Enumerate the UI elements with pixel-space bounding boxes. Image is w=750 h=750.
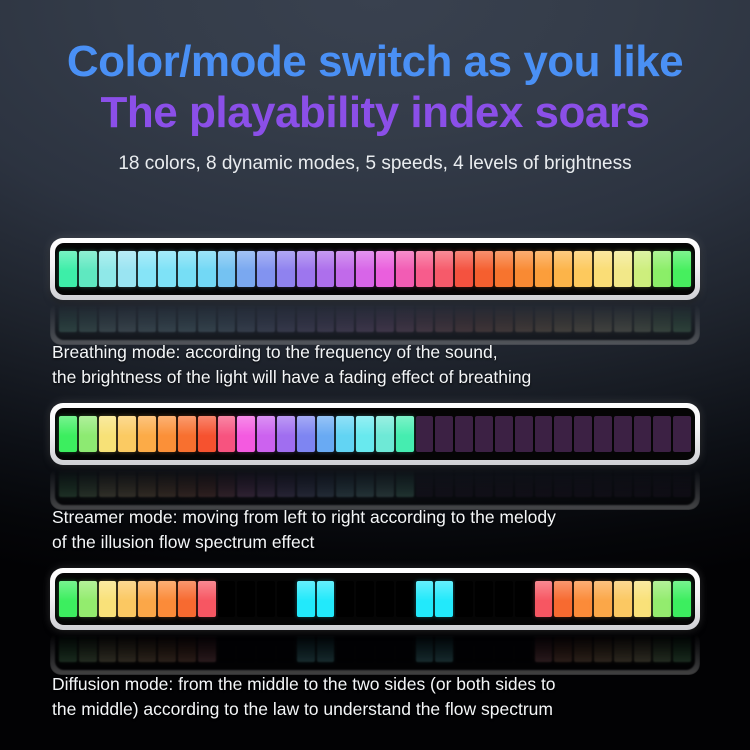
led-segment <box>614 251 632 287</box>
led-segment <box>59 416 77 452</box>
led-segment <box>336 466 354 497</box>
led-segment <box>435 581 453 617</box>
led-segment <box>554 581 572 617</box>
led-segment <box>475 251 493 287</box>
led-segment <box>475 466 493 497</box>
led-segment <box>653 631 671 662</box>
led-segment <box>178 251 196 287</box>
led-segment <box>277 581 295 617</box>
led-segment <box>653 301 671 332</box>
led-segment <box>376 581 394 617</box>
led-segment <box>59 631 77 662</box>
led-segment <box>376 466 394 497</box>
reflection-bar <box>50 466 700 510</box>
led-bar-diffusion <box>50 568 700 630</box>
led-segment <box>118 581 136 617</box>
led-segment <box>257 301 275 332</box>
led-segment <box>634 631 652 662</box>
led-segment <box>554 631 572 662</box>
led-segment <box>138 251 156 287</box>
led-segment <box>297 251 315 287</box>
led-segment <box>574 466 592 497</box>
led-segment <box>455 631 473 662</box>
led-segment <box>99 251 117 287</box>
led-segment <box>594 466 612 497</box>
led-segment <box>237 416 255 452</box>
led-segment <box>515 251 533 287</box>
led-segment <box>435 631 453 662</box>
led-segment <box>673 581 691 617</box>
reflection-bar <box>50 631 700 675</box>
led-segment <box>634 251 652 287</box>
led-segment <box>158 466 176 497</box>
led-segment <box>495 301 513 332</box>
led-segment <box>495 416 513 452</box>
led-segment <box>554 416 572 452</box>
led-segment <box>356 301 374 332</box>
led-unit-breathing <box>50 238 700 345</box>
led-segment <box>653 466 671 497</box>
led-segment <box>416 581 434 617</box>
led-segment <box>475 581 493 617</box>
led-segment <box>118 416 136 452</box>
led-segment <box>653 416 671 452</box>
led-segment <box>376 301 394 332</box>
led-segment <box>277 631 295 662</box>
led-segment <box>218 251 236 287</box>
led-segment <box>218 301 236 332</box>
led-bar-reflection-diffusion <box>50 631 700 675</box>
led-segment <box>198 416 216 452</box>
led-segment <box>495 466 513 497</box>
led-segment <box>237 301 255 332</box>
led-segment <box>277 251 295 287</box>
led-segment <box>198 631 216 662</box>
led-segment <box>317 251 335 287</box>
led-segment <box>277 301 295 332</box>
led-segment <box>158 581 176 617</box>
led-segment <box>396 251 414 287</box>
led-segment <box>435 301 453 332</box>
led-segment <box>178 301 196 332</box>
led-segment <box>634 466 652 497</box>
led-segment <box>435 466 453 497</box>
led-segment <box>198 301 216 332</box>
led-segment <box>99 466 117 497</box>
led-segment <box>535 466 553 497</box>
led-segment <box>376 631 394 662</box>
led-segment <box>634 416 652 452</box>
led-segment <box>574 416 592 452</box>
led-segment <box>237 251 255 287</box>
led-segment <box>614 301 632 332</box>
led-bar-streamer <box>50 403 700 465</box>
led-segment <box>554 466 572 497</box>
led-segment <box>396 631 414 662</box>
led-bar-reflection-breathing <box>50 301 700 345</box>
led-segment <box>317 416 335 452</box>
led-segment <box>673 466 691 497</box>
led-unit-diffusion <box>50 568 700 675</box>
led-segment <box>416 301 434 332</box>
led-segment <box>277 416 295 452</box>
led-segment <box>158 631 176 662</box>
led-segment <box>79 416 97 452</box>
led-segment <box>535 631 553 662</box>
led-segment <box>455 251 473 287</box>
led-segment <box>515 466 533 497</box>
led-segment <box>257 466 275 497</box>
led-segment <box>297 581 315 617</box>
led-segment <box>495 631 513 662</box>
led-segment <box>614 416 632 452</box>
led-segment <box>594 581 612 617</box>
led-segment <box>178 631 196 662</box>
led-segment <box>594 251 612 287</box>
led-segment <box>614 581 632 617</box>
led-segment <box>138 581 156 617</box>
led-segment <box>158 251 176 287</box>
led-segment <box>277 466 295 497</box>
led-segment <box>475 416 493 452</box>
led-segment <box>515 631 533 662</box>
led-segment <box>118 466 136 497</box>
led-segment <box>79 251 97 287</box>
led-segment <box>317 581 335 617</box>
led-segment <box>594 631 612 662</box>
led-segment <box>178 466 196 497</box>
led-segment <box>634 581 652 617</box>
led-segment <box>515 301 533 332</box>
mode-description-breathing: Breathing mode: according to the frequen… <box>52 340 712 390</box>
led-segment <box>297 301 315 332</box>
led-segment <box>99 631 117 662</box>
led-segment <box>416 416 434 452</box>
led-segment <box>455 416 473 452</box>
led-segment <box>673 251 691 287</box>
led-segment <box>59 581 77 617</box>
reflection-screen <box>55 301 695 340</box>
led-segment <box>138 416 156 452</box>
led-segment <box>574 631 592 662</box>
led-segment <box>356 581 374 617</box>
led-segment <box>237 581 255 617</box>
led-segment <box>614 631 632 662</box>
led-segment <box>237 466 255 497</box>
headline-secondary: The playability index soars <box>0 87 750 138</box>
led-segment <box>495 251 513 287</box>
led-segment <box>475 301 493 332</box>
led-segment <box>396 581 414 617</box>
led-segment <box>535 251 553 287</box>
led-segment <box>138 301 156 332</box>
led-segment <box>118 631 136 662</box>
led-segment <box>198 251 216 287</box>
feature-subtitle: 18 colors, 8 dynamic modes, 5 speeds, 4 … <box>0 153 750 175</box>
led-segment <box>237 631 255 662</box>
led-segment <box>653 581 671 617</box>
reflection-screen <box>55 631 695 670</box>
headline-primary: Color/mode switch as you like <box>0 36 750 87</box>
led-segment <box>218 416 236 452</box>
led-segment <box>336 251 354 287</box>
led-segment <box>99 301 117 332</box>
reflection-bar <box>50 301 700 345</box>
mode-description-diffusion: Diffusion mode: from the middle to the t… <box>52 672 712 722</box>
led-segment <box>495 581 513 617</box>
led-segment <box>218 581 236 617</box>
mode-description-streamer: Streamer mode: moving from left to right… <box>52 505 712 555</box>
led-segment <box>297 631 315 662</box>
led-segment <box>554 301 572 332</box>
led-segment <box>317 301 335 332</box>
led-segment <box>59 301 77 332</box>
led-segment <box>297 416 315 452</box>
led-unit-streamer <box>50 403 700 510</box>
led-segment <box>416 631 434 662</box>
led-segment <box>99 581 117 617</box>
led-segment <box>416 251 434 287</box>
led-segment <box>336 581 354 617</box>
led-segment <box>535 581 553 617</box>
led-segment <box>673 301 691 332</box>
led-segment <box>455 581 473 617</box>
led-segment <box>257 631 275 662</box>
led-segment <box>198 581 216 617</box>
led-segment <box>59 466 77 497</box>
led-segment <box>257 581 275 617</box>
led-segment <box>356 466 374 497</box>
led-segment <box>138 631 156 662</box>
led-segment <box>396 301 414 332</box>
led-segment <box>79 631 97 662</box>
led-segment <box>455 301 473 332</box>
led-segment <box>118 251 136 287</box>
led-segment <box>336 301 354 332</box>
product-feature-banner: Color/mode switch as you like The playab… <box>0 0 750 750</box>
led-segment <box>356 416 374 452</box>
led-segment <box>475 631 493 662</box>
led-segment <box>356 251 374 287</box>
led-segment <box>515 416 533 452</box>
headline-block: Color/mode switch as you like The playab… <box>0 36 750 175</box>
led-segment <box>574 301 592 332</box>
led-segment <box>99 416 117 452</box>
led-segment <box>455 466 473 497</box>
led-segment <box>257 251 275 287</box>
led-segment <box>396 416 414 452</box>
led-segment <box>158 416 176 452</box>
led-segment <box>515 581 533 617</box>
led-segment <box>376 251 394 287</box>
led-screen <box>55 573 695 625</box>
led-segment <box>396 466 414 497</box>
led-segment <box>79 466 97 497</box>
led-segment <box>79 581 97 617</box>
led-bar-reflection-streamer <box>50 466 700 510</box>
led-segment <box>79 301 97 332</box>
led-segment <box>535 416 553 452</box>
led-segment <box>158 301 176 332</box>
led-segment <box>138 466 156 497</box>
reflection-screen <box>55 466 695 505</box>
led-screen <box>55 408 695 460</box>
led-segment <box>435 416 453 452</box>
led-segment <box>336 416 354 452</box>
led-segment <box>574 581 592 617</box>
led-segment <box>198 466 216 497</box>
led-bar-breathing <box>50 238 700 300</box>
led-segment <box>336 631 354 662</box>
led-segment <box>416 466 434 497</box>
led-segment <box>356 631 374 662</box>
led-segment <box>178 581 196 617</box>
led-segment <box>594 416 612 452</box>
led-segment <box>673 416 691 452</box>
led-segment <box>218 466 236 497</box>
led-segment <box>594 301 612 332</box>
led-segment <box>118 301 136 332</box>
led-segment <box>218 631 236 662</box>
led-segment <box>535 301 553 332</box>
led-segment <box>614 466 632 497</box>
led-segment <box>317 466 335 497</box>
led-segment <box>317 631 335 662</box>
led-segment <box>634 301 652 332</box>
led-segment <box>673 631 691 662</box>
led-segment <box>257 416 275 452</box>
led-segment <box>59 251 77 287</box>
led-screen <box>55 243 695 295</box>
led-segment <box>376 416 394 452</box>
led-segment <box>554 251 572 287</box>
led-segment <box>297 466 315 497</box>
led-segment <box>574 251 592 287</box>
led-segment <box>653 251 671 287</box>
led-segment <box>178 416 196 452</box>
led-segment <box>435 251 453 287</box>
